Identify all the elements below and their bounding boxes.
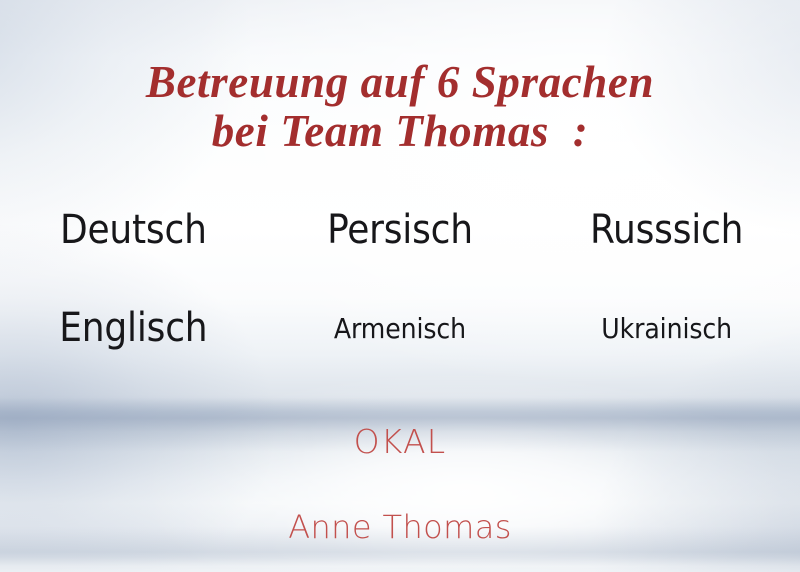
language-item-russsich: Russsich [533,208,800,306]
language-item-ukrainisch: Ukrainisch [533,306,800,376]
slide-title-line-2: bei Team Thomas : [0,107,800,156]
slide-canvas: Betreuung auf 6 Sprachen bei Team Thomas… [0,0,800,572]
slide-title-line-1: Betreuung auf 6 Sprachen [0,58,800,107]
language-item-englisch: Englisch [0,306,267,376]
brand-name-okal: OKAL [0,424,800,460]
language-item-deutsch: Deutsch [0,208,267,306]
signature-name-anne-thomas: Anne Thomas [0,509,800,545]
language-row-1: Deutsch Persisch Russsich [0,208,800,306]
slide-title: Betreuung auf 6 Sprachen bei Team Thomas… [0,58,800,156]
signature-block: Anne Thomas [0,509,800,545]
language-item-persisch: Persisch [267,208,534,306]
language-list: Deutsch Persisch Russsich Englisch Armen… [0,208,800,376]
language-item-armenisch: Armenisch [267,306,534,376]
brand-block: OKAL [0,424,800,460]
language-row-2: Englisch Armenisch Ukrainisch [0,306,800,376]
